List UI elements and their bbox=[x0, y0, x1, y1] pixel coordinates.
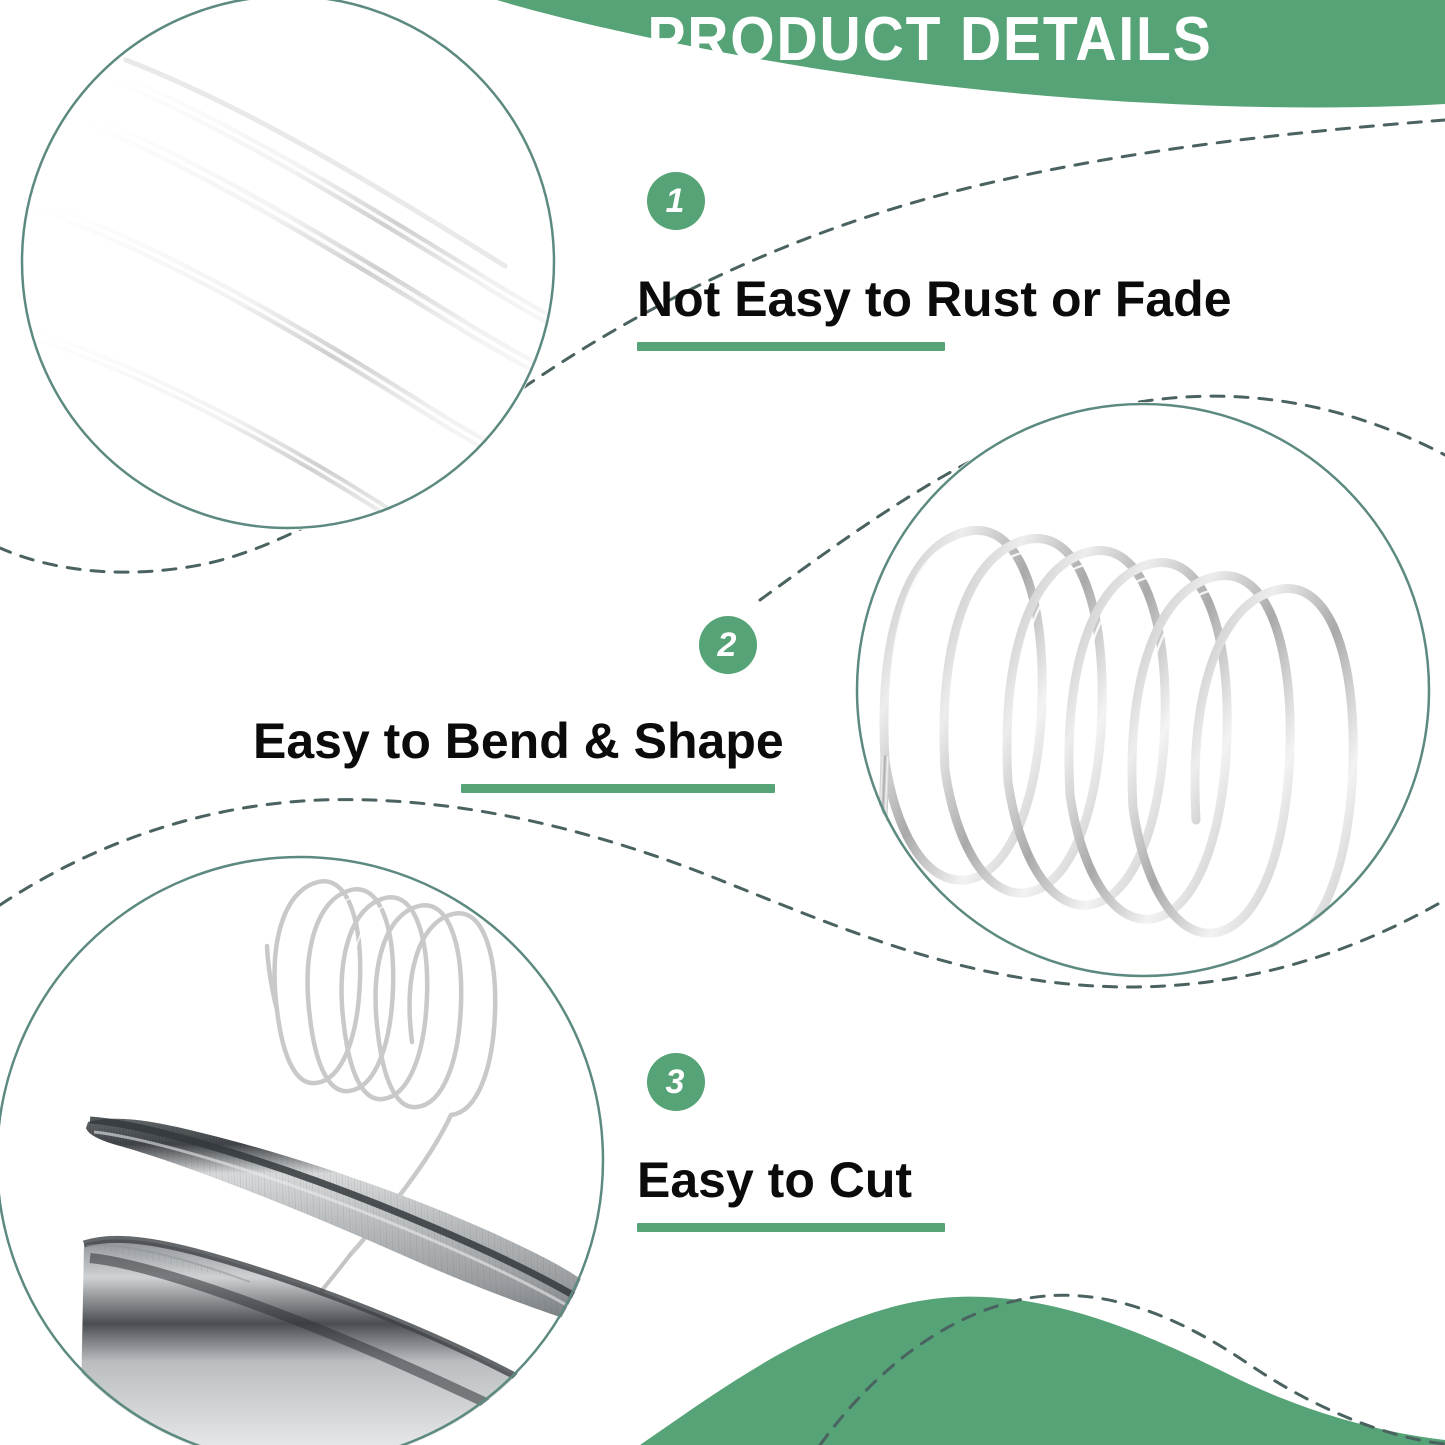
feature-number-badge-3: 3 bbox=[647, 1053, 705, 1111]
photo-wire-coil-spiral bbox=[850, 395, 1440, 1110]
feature-underline-1 bbox=[637, 342, 945, 351]
feature-number-badge-1: 1 bbox=[647, 172, 705, 230]
feature-underline-2 bbox=[461, 784, 775, 793]
photo-wire-strands-closeup bbox=[20, 0, 670, 606]
feature-item-2: 2 Easy to Bend & Shape bbox=[253, 616, 775, 793]
feature-title-1: Not Easy to Rust or Fade bbox=[637, 270, 1232, 328]
feature-title-2: Easy to Bend & Shape bbox=[253, 712, 775, 770]
page-title: PRODUCT DETAILS bbox=[626, 8, 1233, 72]
feature-item-3: 3 Easy to Cut bbox=[637, 1053, 945, 1232]
feature-underline-3 bbox=[637, 1223, 945, 1232]
feature-item-1: 1 Not Easy to Rust or Fade bbox=[637, 172, 1232, 351]
bottom-right-green-wave bbox=[640, 1297, 1445, 1445]
feature-badge-row-2: 2 bbox=[253, 616, 775, 674]
feature-number-badge-2: 2 bbox=[699, 616, 757, 674]
photo-scissors-cutting-wire bbox=[0, 850, 610, 1445]
feature-title-3: Easy to Cut bbox=[637, 1151, 945, 1209]
product-details-infographic: PRODUCT DETAILS 1 Not Easy to Rust or Fa… bbox=[0, 0, 1445, 1445]
